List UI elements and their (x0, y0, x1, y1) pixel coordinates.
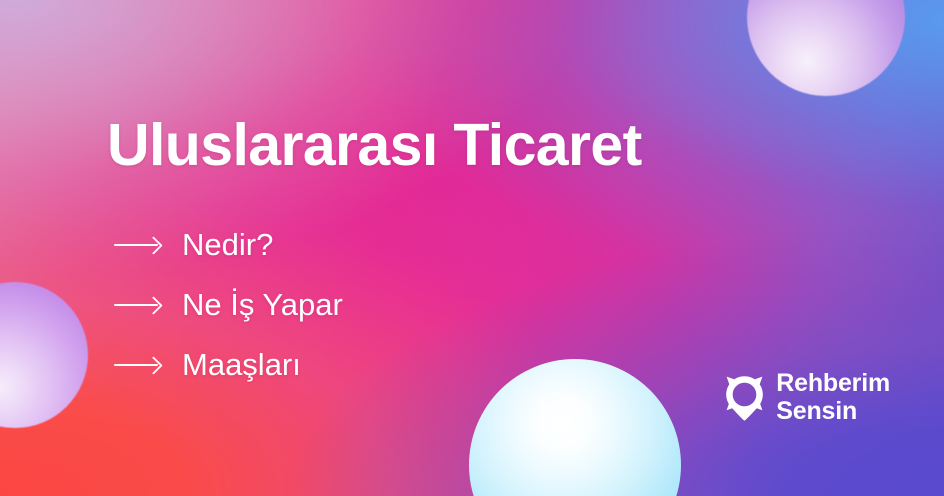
map-pin-compass-icon (724, 374, 765, 421)
brand-logo-text: Rehberim Sensin (776, 371, 890, 424)
decorative-sphere-bottom-left (0, 282, 88, 428)
arrow-right-icon (112, 295, 166, 315)
brand-logo: Rehberim Sensin (724, 371, 890, 424)
arrow-right-icon (112, 355, 166, 375)
decorative-sphere-top-right (747, 0, 905, 96)
arrow-right-icon (112, 235, 166, 255)
list-item: Maaşları (112, 335, 343, 395)
topic-list: Nedir? Ne İş Yapar Maaşları (112, 215, 343, 395)
list-item-label: Nedir? (182, 228, 273, 262)
list-item-label: Ne İş Yapar (182, 288, 343, 322)
list-item: Nedir? (112, 215, 343, 275)
brand-name-line-1: Rehberim (776, 371, 890, 396)
brand-name-line-2: Sensin (776, 399, 857, 424)
list-item: Ne İş Yapar (112, 275, 343, 335)
page-title: Uluslararası Ticaret (107, 114, 642, 176)
promo-banner: Uluslararası Ticaret Nedir? Ne İş Yapar … (0, 0, 944, 496)
list-item-label: Maaşları (182, 348, 301, 382)
decorative-sphere-bottom-center (469, 359, 681, 496)
